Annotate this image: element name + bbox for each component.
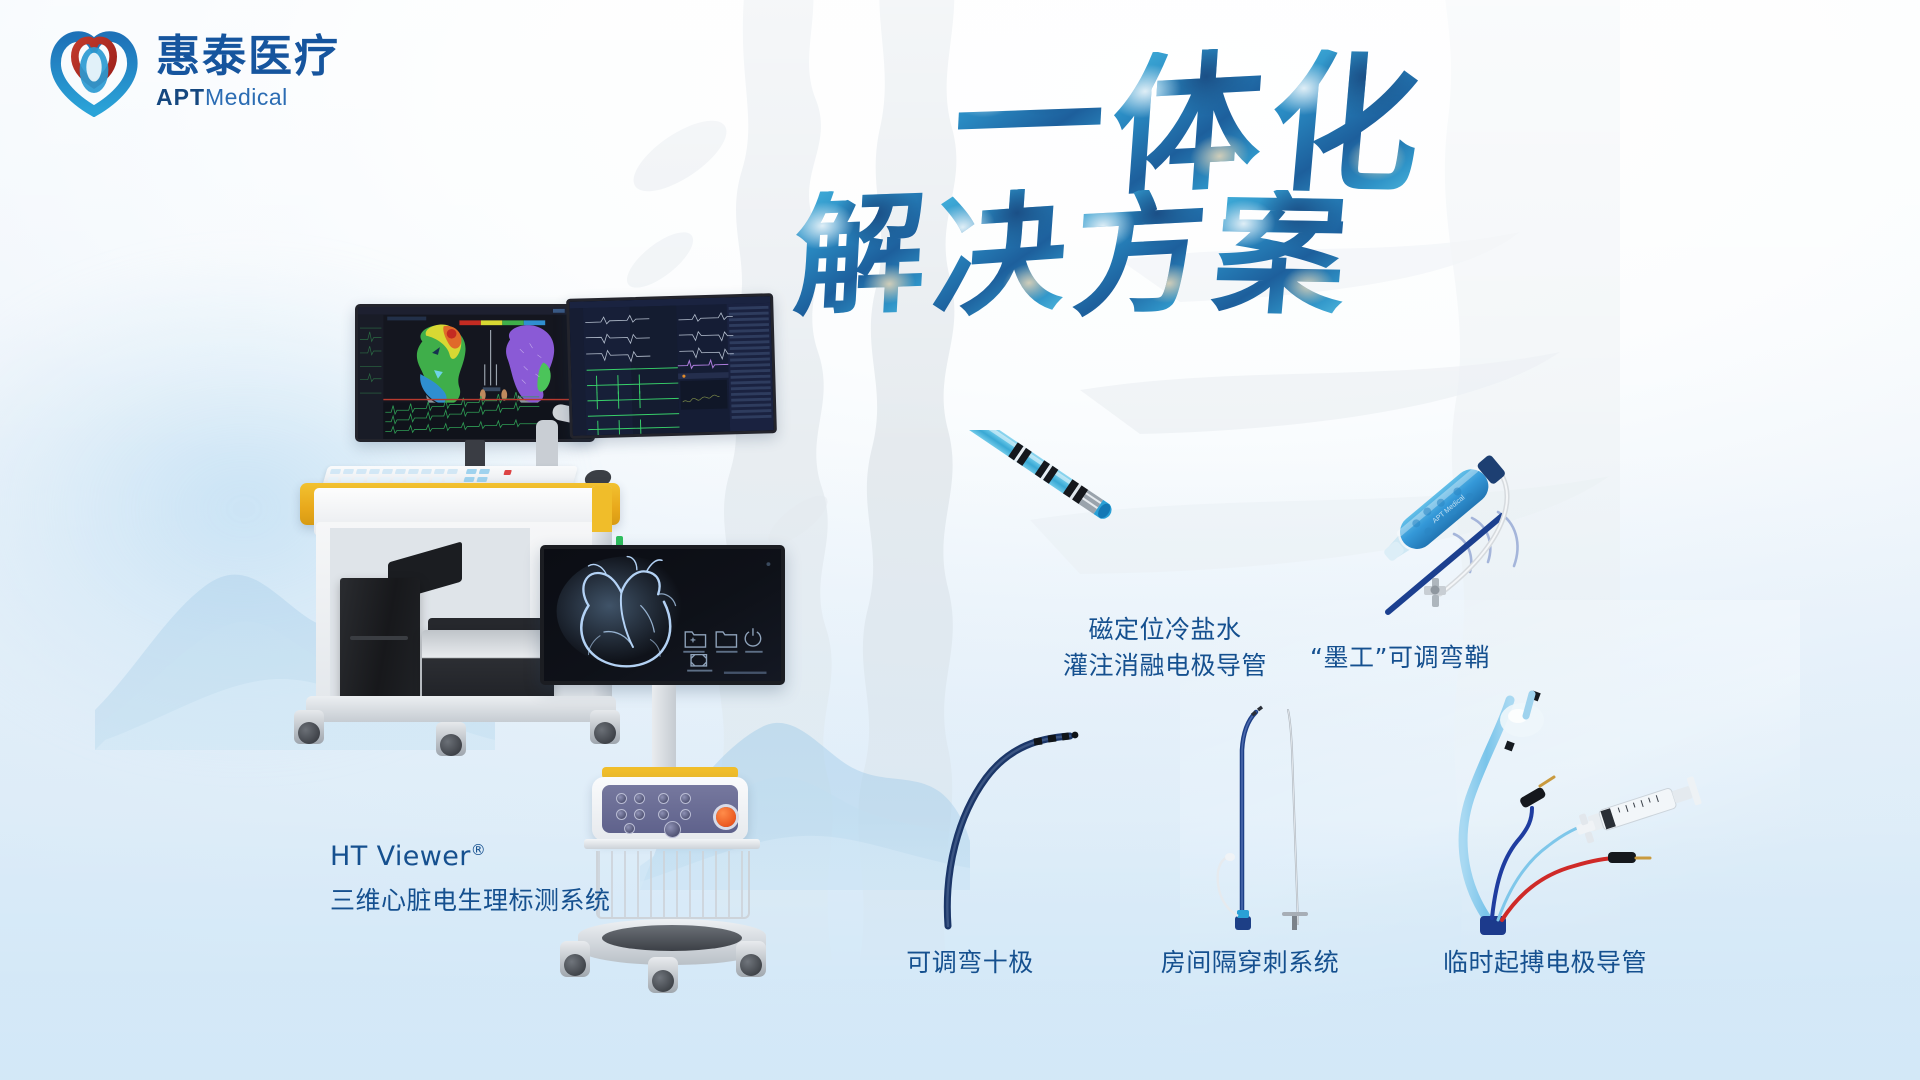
display-stand-post — [652, 685, 676, 770]
connector-port[interactable] — [634, 793, 645, 804]
ground-port[interactable] — [624, 823, 635, 834]
connector-port[interactable] — [658, 793, 669, 804]
tower-pc — [340, 578, 420, 708]
connector-panel-face — [602, 785, 738, 833]
trolley-caster — [560, 941, 590, 977]
connector-port[interactable] — [680, 793, 691, 804]
label-steerable-sheath: “墨工”可调弯鞘 — [1275, 640, 1525, 676]
brand-text: 惠泰医疗 APTMedical — [156, 30, 340, 111]
mapping-display-screen — [540, 545, 785, 685]
brand-name-cn: 惠泰医疗 — [156, 34, 340, 80]
ep-recording-screen-content — [569, 296, 774, 436]
temporary-pacing-catheter-image — [1440, 680, 1750, 935]
headline: 一 体 化 解 决 方 案 — [960, 40, 1610, 380]
steerable-sheath-image: APT Medical — [1380, 440, 1720, 630]
label-transseptal-system: 房间隔穿刺系统 — [1130, 945, 1370, 981]
brand-logo: 惠泰医疗 APTMedical — [46, 18, 366, 123]
mapping-display-trolley — [540, 545, 800, 1035]
steerable-decapolar-catheter-image — [930, 720, 1090, 940]
headline-char-7: 案 — [1204, 189, 1355, 323]
label-workstation: HT Viewer® 三维心脏电生理标测系统 — [330, 838, 611, 919]
brand-name-en: APTMedical — [156, 84, 340, 111]
mapping-display-content — [544, 549, 781, 681]
headline-char-6: 方 — [1065, 186, 1215, 325]
label-pacing-catheter: 临时起搏电极导管 — [1400, 945, 1690, 981]
workstation-name-text: HT Viewer — [330, 841, 471, 872]
workstation-name-en: HT Viewer® — [330, 838, 611, 876]
connector-port[interactable] — [658, 809, 669, 820]
label-decapolar-catheter: 可调弯十极 — [880, 945, 1060, 981]
connector-port[interactable] — [616, 793, 627, 804]
left-monitor-3d-map — [355, 304, 595, 442]
trolley-caster — [736, 941, 766, 977]
trolley-storage-basket — [596, 851, 750, 919]
trolley-base-center — [602, 925, 742, 951]
brand-name-en-bold: APT — [156, 84, 205, 110]
emergency-stop-button[interactable] — [716, 807, 736, 827]
cart-right-post-accent — [592, 486, 612, 532]
right-monitor-ep-traces — [566, 293, 777, 439]
ablation-catheter-image — [960, 430, 1210, 610]
connector-port[interactable] — [680, 809, 691, 820]
apt-medical-heart-logo-icon — [46, 25, 142, 117]
main-connector-port[interactable] — [664, 821, 681, 838]
ablation-label-line1: 磁定位冷盐水 — [1020, 612, 1310, 648]
cart-caster — [294, 710, 324, 744]
trademark-symbol: ® — [471, 841, 486, 859]
trolley-caster — [648, 957, 678, 993]
brand-name-en-light: Medical — [205, 84, 288, 110]
connector-port[interactable] — [616, 809, 627, 820]
poster-canvas: 惠泰医疗 APTMedical 一 体 化 解 决 方 案 — [0, 0, 1920, 1080]
cart-caster — [436, 722, 466, 756]
headline-char-5: 决 — [925, 185, 1075, 326]
headline-line-2: 解 决 方 案 — [790, 190, 1350, 322]
transseptal-puncture-system-image — [1180, 680, 1350, 930]
headline-char-4: 解 — [786, 188, 933, 325]
connector-port[interactable] — [634, 809, 645, 820]
label-ablation-catheter: 磁定位冷盐水 灌注消融电极导管 — [1020, 612, 1310, 683]
workstation-name-cn: 三维心脏电生理标测系统 — [330, 883, 611, 919]
printer — [422, 630, 554, 702]
ablation-label-line2: 灌注消融电极导管 — [1020, 648, 1310, 684]
